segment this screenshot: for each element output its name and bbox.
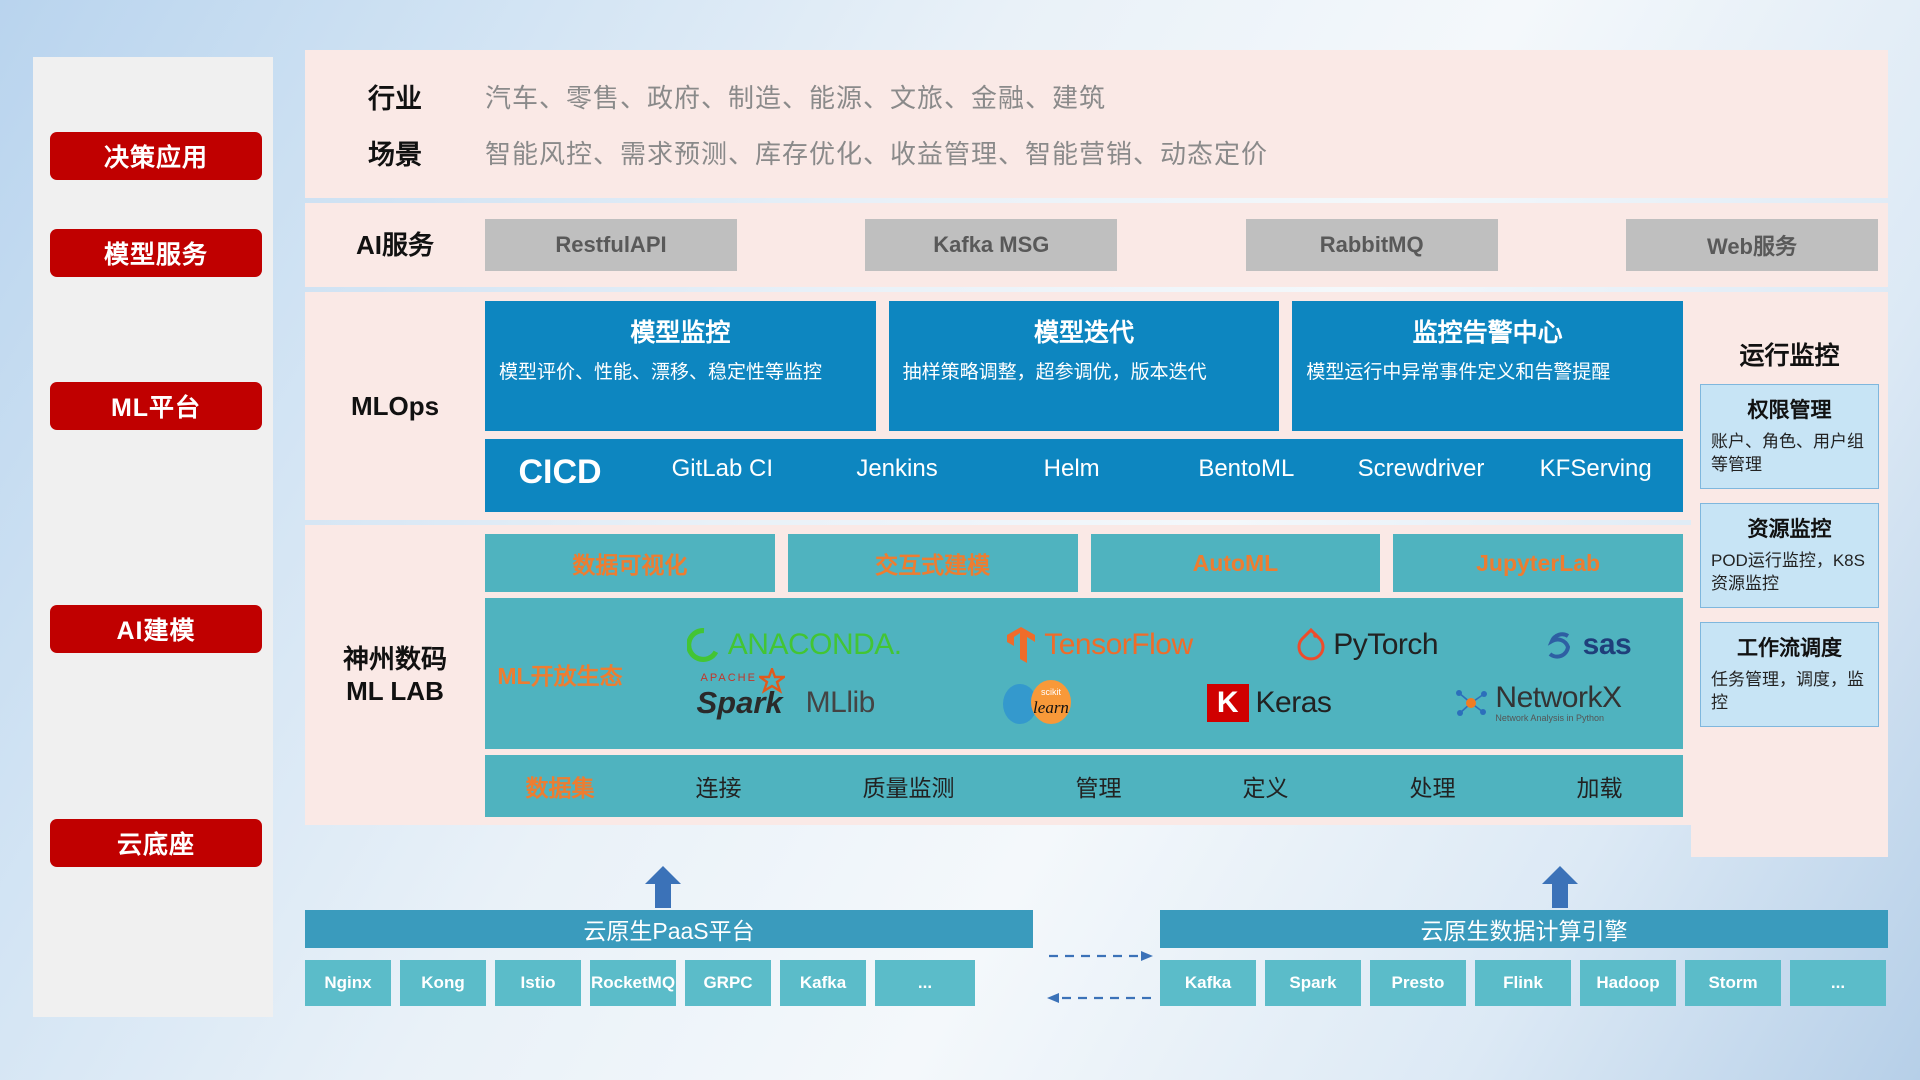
rail-item-cloud-base[interactable]: 云底座 (50, 819, 262, 867)
mlops-card-model-iteration[interactable]: 模型迭代 抽样策略调整，超参调优，版本迭代 (889, 301, 1280, 431)
monitor-card-desc: 账户、角色、用户组等管理 (1711, 431, 1868, 477)
cicd-title: CICD (485, 453, 635, 492)
engine-chip-hadoop[interactable]: Hadoop (1580, 960, 1676, 1006)
monitor-card-title: 工作流调度 (1711, 632, 1868, 662)
rail-item-decision-app[interactable]: 决策应用 (50, 132, 262, 180)
monitor-card-permission[interactable]: 权限管理 账户、角色、用户组等管理 (1700, 384, 1879, 489)
mlops-label: MLOps (305, 292, 485, 520)
paas-chip-istio[interactable]: Istio (495, 960, 581, 1006)
cicd-item-bentoml[interactable]: BentoML (1159, 453, 1334, 484)
rail-item-model-service[interactable]: 模型服务 (50, 229, 262, 277)
ml-lab-band: 神州数码 ML LAB 数据可视化 交互式建模 AutoML JupyterLa… (305, 525, 1888, 825)
paas-chip-kong[interactable]: Kong (400, 960, 486, 1006)
rail-item-ai-modeling[interactable]: AI建模 (50, 605, 262, 653)
ml-lab-label: 神州数码 ML LAB (305, 525, 485, 825)
industry-row: 行业 汽车、零售、政府、制造、能源、文旅、金融、建筑 (305, 68, 1888, 124)
pytorch-icon (1296, 628, 1326, 662)
bidirectional-link-icon (1045, 942, 1155, 1012)
keras-logo: K Keras (1207, 684, 1332, 722)
card-desc: 模型运行中异常事件定义和告警提醒 (1306, 359, 1669, 387)
paas-chip-grpc[interactable]: GRPC (685, 960, 771, 1006)
ml-lab-label-line2: ML LAB (343, 675, 447, 708)
dataset-item-manage[interactable]: 管理 (1076, 769, 1122, 803)
spark-star-icon (759, 668, 785, 694)
arrow-up-left-icon (643, 866, 683, 908)
ml-lab-label-line1: 神州数码 (343, 643, 447, 676)
service-chip-restfulapi[interactable]: RestfulAPI (485, 219, 737, 271)
ml-ecosystem-panel: ML开放生态 ANACONDA. (485, 598, 1683, 749)
monitor-card-desc: POD运行监控，K8S资源监控 (1711, 550, 1868, 596)
networkx-label: NetworkX (1495, 682, 1621, 714)
industry-values: 汽车、零售、政府、制造、能源、文旅、金融、建筑 (485, 78, 1106, 115)
scenario-label: 场景 (305, 133, 485, 172)
layer-rail: 决策应用 模型服务 ML平台 AI建模 云底座 (33, 57, 273, 1017)
cicd-bar: CICD GitLab CI Jenkins Helm BentoML Scre… (485, 439, 1683, 512)
rail-item-ml-platform[interactable]: ML平台 (50, 382, 262, 430)
monitor-card-title: 资源监控 (1711, 513, 1868, 543)
scenario-values: 智能风控、需求预测、库存优化、收益管理、智能营销、动态定价 (485, 134, 1268, 171)
mlops-card-model-monitoring[interactable]: 模型监控 模型评价、性能、漂移、稳定性等监控 (485, 301, 876, 431)
engine-chip-storm[interactable]: Storm (1685, 960, 1781, 1006)
card-desc: 抽样策略调整，超参调优，版本迭代 (903, 359, 1266, 387)
tensorflow-icon (1005, 626, 1037, 664)
service-chip-kafka-msg[interactable]: Kafka MSG (865, 219, 1117, 271)
dataset-item-process[interactable]: 处理 (1410, 769, 1456, 803)
paas-chip-nginx[interactable]: Nginx (305, 960, 391, 1006)
card-title: 模型迭代 (903, 313, 1266, 349)
svg-text:scikit: scikit (1041, 687, 1061, 697)
engine-chip-more[interactable]: ... (1790, 960, 1886, 1006)
mllib-label: MLlib (806, 686, 875, 720)
engine-chip-flink[interactable]: Flink (1475, 960, 1571, 1006)
sas-icon (1542, 628, 1576, 662)
card-desc: 模型评价、性能、漂移、稳定性等监控 (499, 359, 862, 387)
cloud-base-section: 云原生PaaS平台 Nginx Kong Istio RocketMQ GRPC… (305, 890, 1888, 1050)
engine-chip-presto[interactable]: Presto (1370, 960, 1466, 1006)
lab-tab-data-visualization[interactable]: 数据可视化 (485, 534, 775, 592)
scikit-learn-icon: scikit learn (998, 680, 1084, 726)
pytorch-logo: PyTorch (1296, 628, 1438, 662)
paas-platform-group: 云原生PaaS平台 Nginx Kong Istio RocketMQ GRPC… (305, 910, 1033, 1006)
ai-service-band: AI服务 RestfulAPI Kafka MSG RabbitMQ Web服务 (305, 203, 1888, 287)
monitor-card-workflow[interactable]: 工作流调度 任务管理，调度，监控 (1700, 622, 1879, 727)
spark-mllib-logo: APACHE Spark MLlib (697, 685, 875, 721)
scenario-row: 场景 智能风控、需求预测、库存优化、收益管理、智能营销、动态定价 (305, 124, 1888, 180)
decision-application-band: 行业 汽车、零售、政府、制造、能源、文旅、金融、建筑 场景 智能风控、需求预测、… (305, 50, 1888, 198)
anaconda-label: ANACONDA. (728, 628, 902, 662)
runtime-monitoring-panel: 运行监控 权限管理 账户、角色、用户组等管理 资源监控 POD运行监控，K8S资… (1691, 324, 1888, 857)
mlops-card-alert-center[interactable]: 监控告警中心 模型运行中异常事件定义和告警提醒 (1292, 301, 1683, 431)
dataset-bar: 数据集 连接 质量监测 管理 定义 处理 加载 (485, 755, 1683, 817)
card-title: 模型监控 (499, 313, 862, 349)
service-chip-rabbitmq[interactable]: RabbitMQ (1246, 219, 1498, 271)
tensorflow-label: TensorFlow (1044, 628, 1192, 662)
arrow-up-right-icon (1540, 866, 1580, 908)
dataset-label: 数据集 (485, 769, 635, 803)
cicd-item-screwdriver[interactable]: Screwdriver (1334, 453, 1509, 484)
runtime-monitoring-title: 运行监控 (1739, 336, 1839, 372)
sas-logo: sas (1542, 628, 1632, 662)
paas-chip-more[interactable]: ... (875, 960, 975, 1006)
paas-chip-kafka[interactable]: Kafka (780, 960, 866, 1006)
anaconda-icon (687, 628, 721, 662)
data-engine-title: 云原生数据计算引擎 (1160, 910, 1888, 948)
cicd-item-helm[interactable]: Helm (984, 453, 1159, 484)
ai-service-label: AI服务 (305, 229, 485, 262)
cicd-item-gitlab-ci[interactable]: GitLab CI (635, 453, 810, 484)
monitor-card-resource[interactable]: 资源监控 POD运行监控，K8S资源监控 (1700, 503, 1879, 608)
paas-platform-title: 云原生PaaS平台 (305, 910, 1033, 948)
svg-text:learn: learn (1033, 698, 1069, 717)
networkx-icon (1454, 687, 1488, 719)
pytorch-label: PyTorch (1333, 628, 1438, 662)
cicd-item-kfserving[interactable]: KFServing (1508, 453, 1683, 484)
industry-label: 行业 (305, 77, 485, 116)
paas-chip-rocketmq[interactable]: RocketMQ (590, 960, 676, 1006)
data-engine-group: 云原生数据计算引擎 Kafka Spark Presto Flink Hadoo… (1160, 910, 1888, 1006)
networkx-logo: NetworkX Network Analysis in Python (1454, 682, 1621, 723)
service-chip-web[interactable]: Web服务 (1626, 219, 1878, 271)
dataset-item-load[interactable]: 加载 (1577, 769, 1623, 803)
tensorflow-logo: TensorFlow (1005, 626, 1192, 664)
lab-tab-interactive-modeling[interactable]: 交互式建模 (788, 534, 1078, 592)
mlops-band: MLOps 模型监控 模型评价、性能、漂移、稳定性等监控 模型迭代 抽样策略调整… (305, 292, 1888, 520)
sas-label: sas (1583, 628, 1632, 662)
dataset-item-define[interactable]: 定义 (1243, 769, 1289, 803)
lab-tab-jupyterlab[interactable]: JupyterLab (1393, 534, 1683, 592)
monitor-card-desc: 任务管理，调度，监控 (1711, 669, 1868, 715)
dataset-item-connect[interactable]: 连接 (696, 769, 742, 803)
ml-ecosystem-label: ML开放生态 (485, 657, 635, 691)
monitor-card-title: 权限管理 (1711, 394, 1868, 424)
engine-chip-kafka[interactable]: Kafka (1160, 960, 1256, 1006)
cicd-item-jenkins[interactable]: Jenkins (810, 453, 985, 484)
dataset-item-quality[interactable]: 质量监测 (863, 769, 955, 803)
keras-k-icon: K (1207, 684, 1249, 722)
anaconda-logo: ANACONDA. (687, 628, 902, 662)
keras-label: Keras (1256, 686, 1332, 720)
lab-tab-automl[interactable]: AutoML (1091, 534, 1381, 592)
networkx-sublabel: Network Analysis in Python (1495, 714, 1621, 723)
scikit-learn-logo: scikit learn (998, 680, 1084, 726)
card-title: 监控告警中心 (1306, 313, 1669, 349)
spark-apache-label: APACHE (701, 672, 757, 684)
engine-chip-spark[interactable]: Spark (1265, 960, 1361, 1006)
